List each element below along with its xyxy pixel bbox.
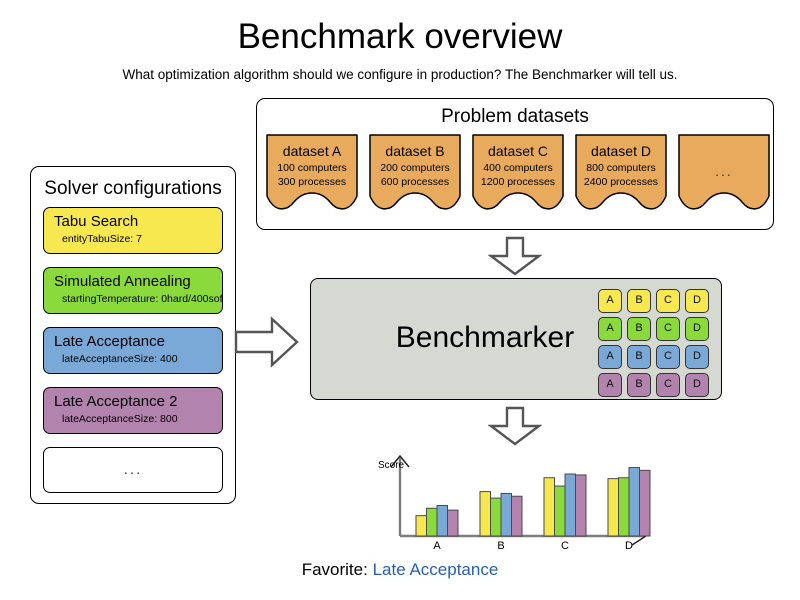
page-title: Benchmark overview bbox=[0, 16, 800, 58]
arrow-right-icon bbox=[234, 316, 300, 373]
solver-config-more-label: ... bbox=[124, 460, 143, 480]
arrow-down-icon-datasets bbox=[488, 236, 542, 281]
benchmark-result-cell[interactable]: B bbox=[627, 345, 651, 369]
solver-config-name: Late Acceptance 2 bbox=[54, 392, 222, 412]
dataset-tile[interactable]: dataset D800 computers2400 processes bbox=[575, 134, 667, 214]
solver-config-parameter: lateAcceptanceSize: 400 bbox=[62, 352, 222, 366]
benchmark-result-cell[interactable]: C bbox=[656, 289, 680, 313]
benchmarker-box: Benchmarker ABCDABCDABCDABCD bbox=[310, 278, 722, 400]
benchmark-result-grid: ABCDABCDABCDABCD bbox=[598, 289, 709, 397]
benchmark-result-cell[interactable]: D bbox=[685, 289, 709, 313]
dataset-tile[interactable]: dataset A100 computers300 processes bbox=[266, 134, 358, 214]
arrow-down-icon-chart bbox=[488, 406, 542, 451]
problem-datasets-title: Problem datasets bbox=[257, 105, 773, 129]
benchmark-result-cell[interactable]: A bbox=[598, 289, 622, 313]
chart-canvas bbox=[372, 448, 658, 553]
solver-config-name: Late Acceptance bbox=[54, 332, 222, 352]
chart-x-tick-d: D bbox=[614, 540, 644, 552]
solver-config-name: Simulated Annealing bbox=[54, 272, 222, 292]
benchmark-result-cell[interactable]: D bbox=[685, 317, 709, 341]
favorite-value: Late Acceptance bbox=[373, 560, 499, 579]
favorite-line: Favorite: Late Acceptance bbox=[0, 559, 800, 581]
favorite-label: Favorite: bbox=[302, 560, 368, 579]
benchmark-result-cell[interactable]: B bbox=[627, 373, 651, 397]
dataset-tile-more[interactable]: ... bbox=[678, 134, 770, 214]
benchmark-result-cell[interactable]: C bbox=[656, 345, 680, 369]
benchmark-result-cell[interactable]: B bbox=[627, 317, 651, 341]
chart-x-tick-c: C bbox=[550, 540, 580, 552]
page-subtitle: What optimization algorithm should we co… bbox=[0, 66, 800, 84]
dataset-tile[interactable]: dataset C400 computers1200 processes bbox=[472, 134, 564, 214]
chart-x-tick-b: B bbox=[486, 540, 516, 552]
solver-config-card[interactable]: Simulated AnnealingstartingTemperature: … bbox=[43, 267, 223, 314]
benchmark-score-chart: Score ABCD bbox=[372, 448, 658, 553]
solver-config-parameter: startingTemperature: 0hard/400soft bbox=[62, 292, 222, 306]
chart-y-axis-label: Score bbox=[378, 460, 404, 472]
solver-config-card[interactable]: Tabu SearchentityTabuSize: 7 bbox=[43, 207, 223, 254]
solver-config-card[interactable]: Late AcceptancelateAcceptanceSize: 400 bbox=[43, 327, 223, 374]
solver-config-card[interactable]: Late Acceptance 2lateAcceptanceSize: 800 bbox=[43, 387, 223, 434]
solver-configurations-title: Solver configurations bbox=[31, 177, 235, 201]
solver-config-more[interactable]: ... bbox=[43, 447, 223, 493]
benchmark-result-cell[interactable]: A bbox=[598, 373, 622, 397]
benchmark-result-cell[interactable]: C bbox=[656, 317, 680, 341]
benchmark-result-cell[interactable]: A bbox=[598, 317, 622, 341]
benchmark-result-cell[interactable]: A bbox=[598, 345, 622, 369]
benchmark-result-cell[interactable]: D bbox=[685, 373, 709, 397]
problem-datasets-panel: Problem datasets dataset A100 computers3… bbox=[256, 98, 774, 230]
solver-configuration-list: Tabu SearchentityTabuSize: 7Simulated An… bbox=[31, 201, 235, 493]
solver-config-parameter: entityTabuSize: 7 bbox=[62, 232, 222, 246]
benchmarker-label: Benchmarker bbox=[335, 319, 635, 357]
benchmark-result-cell[interactable]: C bbox=[656, 373, 680, 397]
dataset-list: dataset A100 computers300 processesdatas… bbox=[257, 129, 773, 214]
solver-config-name: Tabu Search bbox=[54, 212, 222, 232]
chart-x-tick-a: A bbox=[422, 540, 452, 552]
solver-config-parameter: lateAcceptanceSize: 800 bbox=[62, 412, 222, 426]
dataset-tile[interactable]: dataset B200 computers600 processes bbox=[369, 134, 461, 214]
benchmark-result-cell[interactable]: B bbox=[627, 289, 651, 313]
benchmark-result-cell[interactable]: D bbox=[685, 345, 709, 369]
solver-configurations-panel: Solver configurations Tabu SearchentityT… bbox=[30, 166, 236, 504]
